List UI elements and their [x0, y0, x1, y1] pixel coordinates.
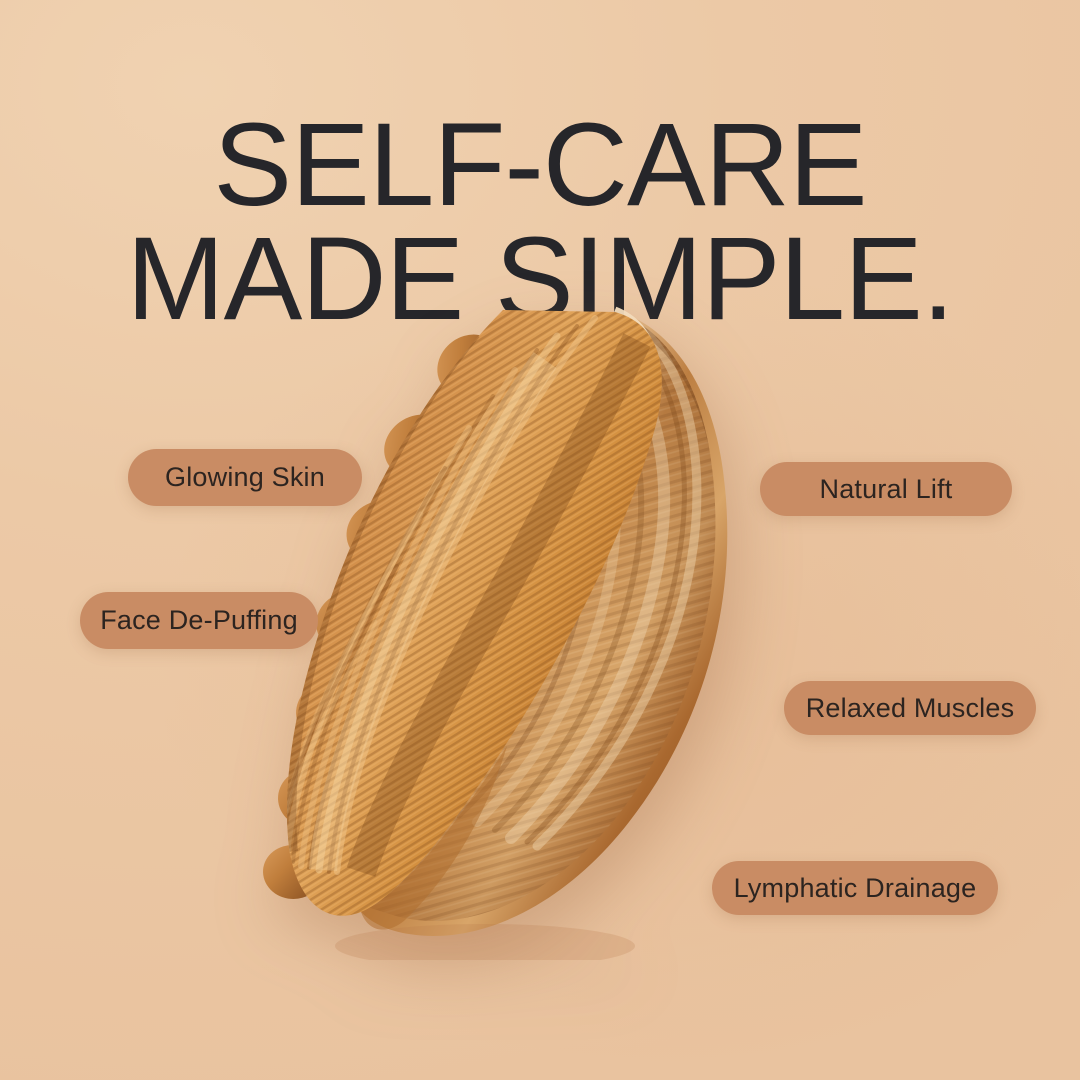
- headline-line-1: SELF-CARE: [0, 108, 1080, 222]
- benefit-pill-label: Relaxed Muscles: [806, 693, 1015, 724]
- benefit-pill-lymphatic-drainage[interactable]: Lymphatic Drainage: [712, 861, 998, 915]
- benefit-pill-label: Face De-Puffing: [100, 605, 298, 636]
- benefit-pill-label: Glowing Skin: [165, 462, 325, 493]
- benefit-pill-label: Natural Lift: [820, 474, 953, 505]
- poster-canvas: SELF-CARE MADE SIMPLE.: [0, 0, 1080, 1080]
- benefit-pill-label: Lymphatic Drainage: [734, 873, 977, 904]
- benefit-pill-face-de-puffing[interactable]: Face De-Puffing: [80, 592, 318, 649]
- benefit-pill-relaxed-muscles[interactable]: Relaxed Muscles: [784, 681, 1036, 735]
- benefit-pill-glowing-skin[interactable]: Glowing Skin: [128, 449, 362, 506]
- benefit-pill-natural-lift[interactable]: Natural Lift: [760, 462, 1012, 516]
